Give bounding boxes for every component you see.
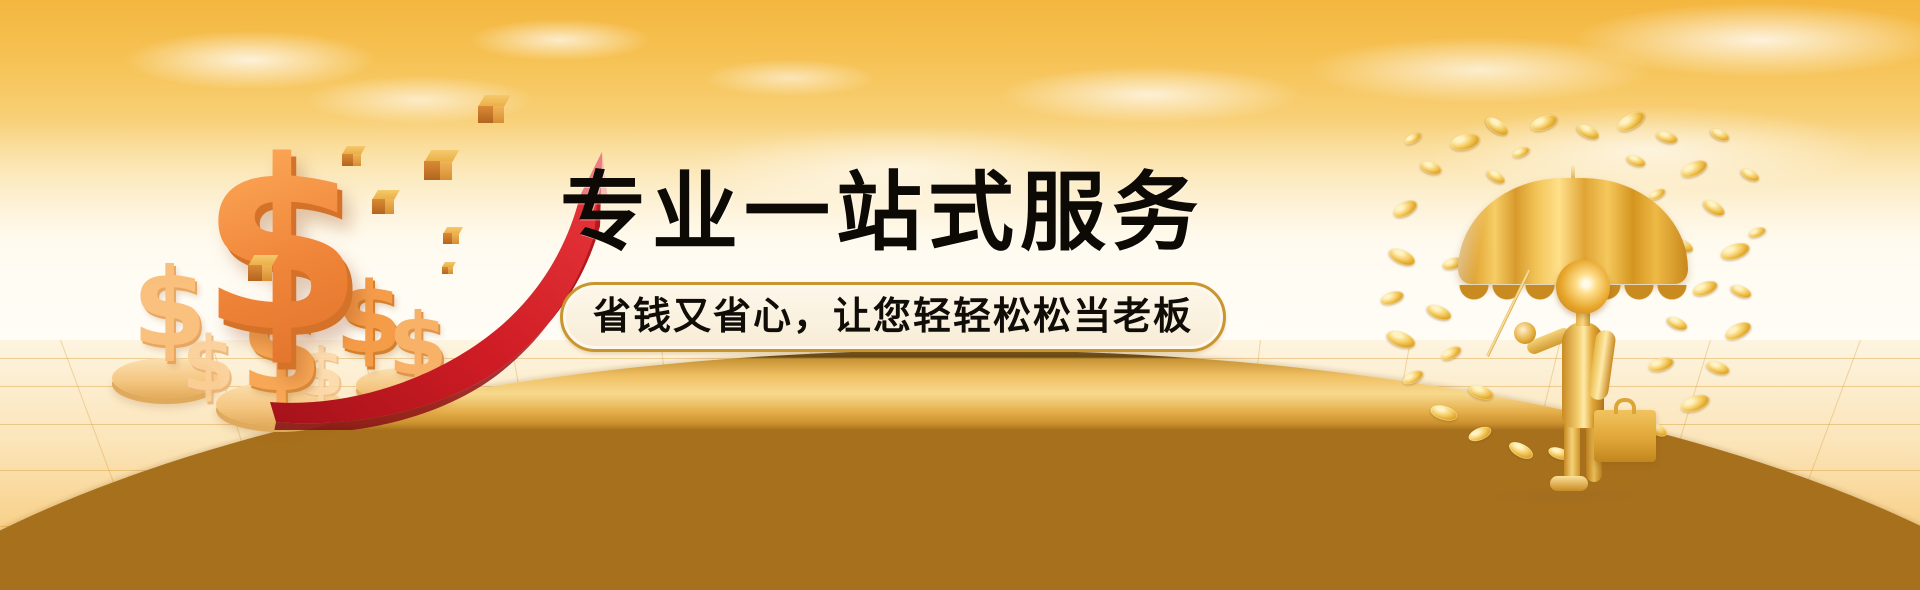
gold-cube — [342, 146, 361, 166]
gold-coin — [1419, 159, 1444, 177]
gold-briefcase — [1594, 410, 1656, 462]
gold-coin — [1483, 114, 1512, 139]
briefcase-handle — [1614, 398, 1636, 414]
gold-coin — [1747, 225, 1767, 240]
figure-hand — [1514, 322, 1536, 344]
gold-coin — [1384, 327, 1417, 351]
figure-head — [1556, 260, 1610, 314]
gold-coin — [1729, 282, 1754, 300]
figure-left-leg — [1564, 420, 1580, 482]
gold-coin — [1439, 343, 1464, 363]
gold-coin — [1511, 145, 1531, 160]
gold-coin — [1401, 368, 1426, 388]
gold-coin — [1425, 302, 1454, 324]
gold-coin — [1718, 240, 1751, 264]
subtitle-pill: 省钱又省心，让您轻轻松松当老板 — [560, 282, 1226, 352]
gold-coin — [1709, 126, 1731, 143]
gold-coin — [1665, 314, 1690, 333]
gold-coin — [1403, 130, 1423, 147]
gold-coin — [1655, 129, 1679, 146]
gold-coin — [1575, 121, 1602, 142]
gold-coin — [1429, 402, 1460, 423]
gold-coin — [1739, 166, 1761, 184]
gold-coin — [1379, 289, 1406, 308]
gold-coin — [1625, 153, 1647, 169]
gold-coin — [1647, 355, 1676, 375]
gold-cube — [424, 150, 452, 180]
gold-coin — [1614, 108, 1647, 136]
gold-coin — [1467, 424, 1494, 444]
figure-foot — [1550, 476, 1588, 491]
gold-cube — [443, 227, 459, 244]
gold-cube — [478, 95, 504, 123]
gold-cube — [442, 262, 453, 274]
gold-coin — [1467, 382, 1496, 402]
gold-coin — [1528, 112, 1559, 135]
gold-coin — [1722, 319, 1753, 344]
page-title: 专业一站式服务 — [560, 170, 1320, 256]
umbrella-coins-scene — [1380, 110, 1780, 490]
gold-coin — [1691, 278, 1720, 299]
gold-coin — [1386, 245, 1417, 269]
gold-coin — [1678, 391, 1711, 415]
gold-coin — [1705, 359, 1732, 378]
gold-coin — [1390, 197, 1420, 222]
gold-coin — [1701, 197, 1728, 219]
gold-cube — [248, 255, 272, 281]
gold-coin — [1449, 131, 1482, 154]
gold-businessman-figure — [1530, 260, 1640, 490]
page-subtitle: 省钱又省心，让您轻轻松松当老板 — [593, 293, 1193, 339]
gold-cube — [372, 190, 394, 214]
promo-banner: $ $ $ $ $ $ $ — [0, 0, 1920, 590]
headline-text-block: 专业一站式服务 省钱又省心，让您轻轻松松当老板 — [560, 170, 1320, 352]
arrow-body — [270, 152, 602, 423]
